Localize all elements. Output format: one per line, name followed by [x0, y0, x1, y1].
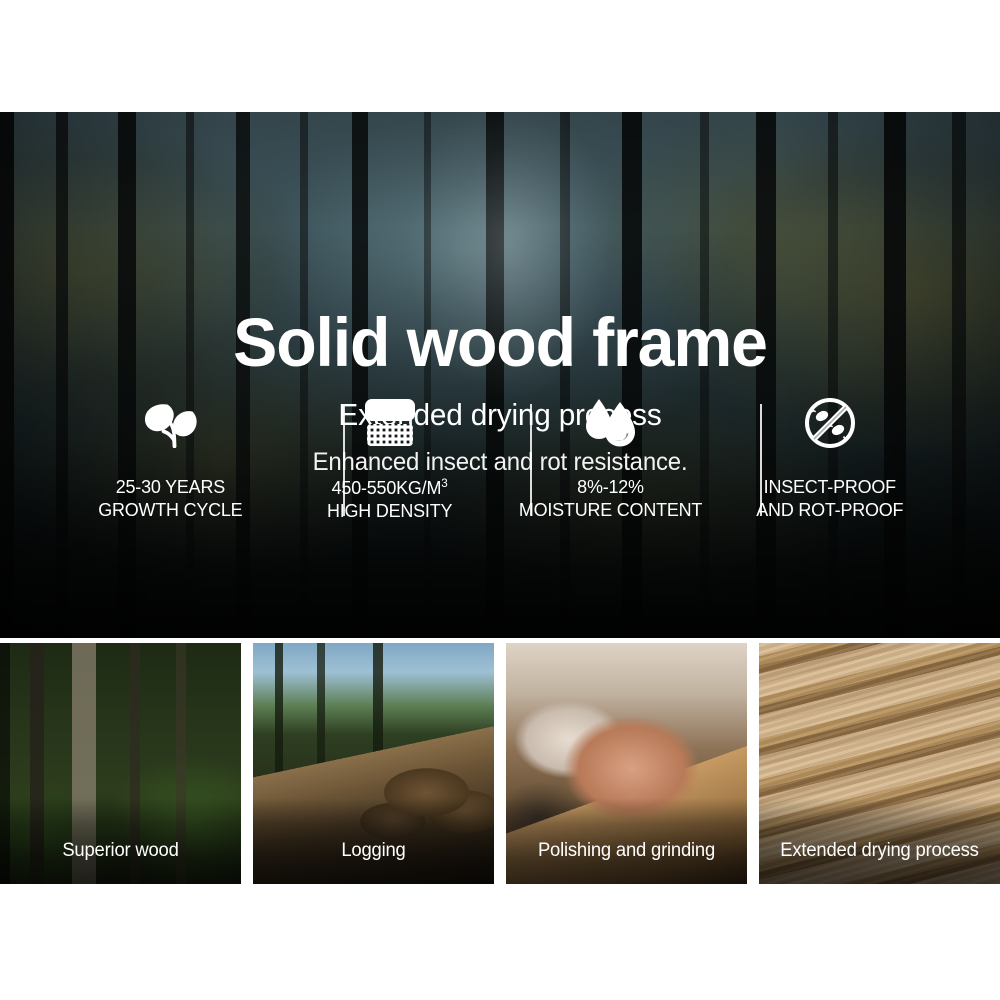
gallery-tile-superior-wood[interactable]: Superior wood [0, 643, 241, 884]
feature-text: 8%-12% MOISTURE CONTENT [518, 476, 701, 521]
gallery-caption: Polishing and grinding [510, 840, 744, 862]
hero-banner: Solid wood frame Extended drying process… [0, 112, 1000, 638]
feature-value: 8%-12% [577, 476, 644, 497]
feature-growth-cycle: 25-30 YEARS GROWTH CYCLE [60, 394, 280, 521]
water-drops-icon [575, 394, 645, 452]
gallery-caption: Logging [257, 840, 491, 862]
mattress-density-icon [355, 394, 425, 452]
feature-value: 25-30 YEARS [115, 476, 224, 497]
no-insect-icon [795, 394, 865, 452]
feature-caption: MOISTURE CONTENT [518, 499, 701, 520]
page-title: Solid wood frame [20, 308, 980, 377]
feature-caption: HIGH DENSITY [327, 500, 452, 521]
hero-content: Solid wood frame Extended drying process… [0, 112, 1000, 638]
feature-divider [343, 404, 345, 516]
feature-caption: AND ROT-PROOF [756, 499, 903, 520]
gallery-caption: Superior wood [4, 840, 238, 862]
feature-divider [760, 404, 762, 516]
feature-moisture-content: 8%-12% MOISTURE CONTENT [500, 394, 720, 521]
feature-high-density: 450-550KG/M3 HIGH DENSITY [280, 394, 500, 522]
feature-value: INSECT-PROOF [764, 476, 896, 497]
photo-gallery: Superior wood Logging Polishing and grin… [0, 643, 1000, 884]
feature-divider [530, 404, 532, 516]
feature-text: INSECT-PROOF AND ROT-PROOF [756, 476, 903, 521]
feature-list: 25-30 YEARS GROWTH CYCLE [60, 394, 940, 544]
feature-caption: GROWTH CYCLE [98, 499, 242, 520]
feature-value-superscript: 3 [442, 476, 448, 490]
gallery-tile-polishing-and-grinding[interactable]: Polishing and grinding [506, 643, 747, 884]
feature-text: 450-550KG/M3 HIGH DENSITY [327, 476, 452, 522]
gallery-caption: Extended drying process [763, 840, 997, 862]
feature-insect-proof: INSECT-PROOF AND ROT-PROOF [720, 394, 940, 521]
gallery-tile-logging[interactable]: Logging [253, 643, 494, 884]
feature-value: 450-550KG/M [332, 477, 442, 498]
feature-text: 25-30 YEARS GROWTH CYCLE [98, 476, 242, 521]
sprout-icon [135, 394, 205, 452]
gallery-tile-extended-drying-process[interactable]: Extended drying process [759, 643, 1000, 884]
